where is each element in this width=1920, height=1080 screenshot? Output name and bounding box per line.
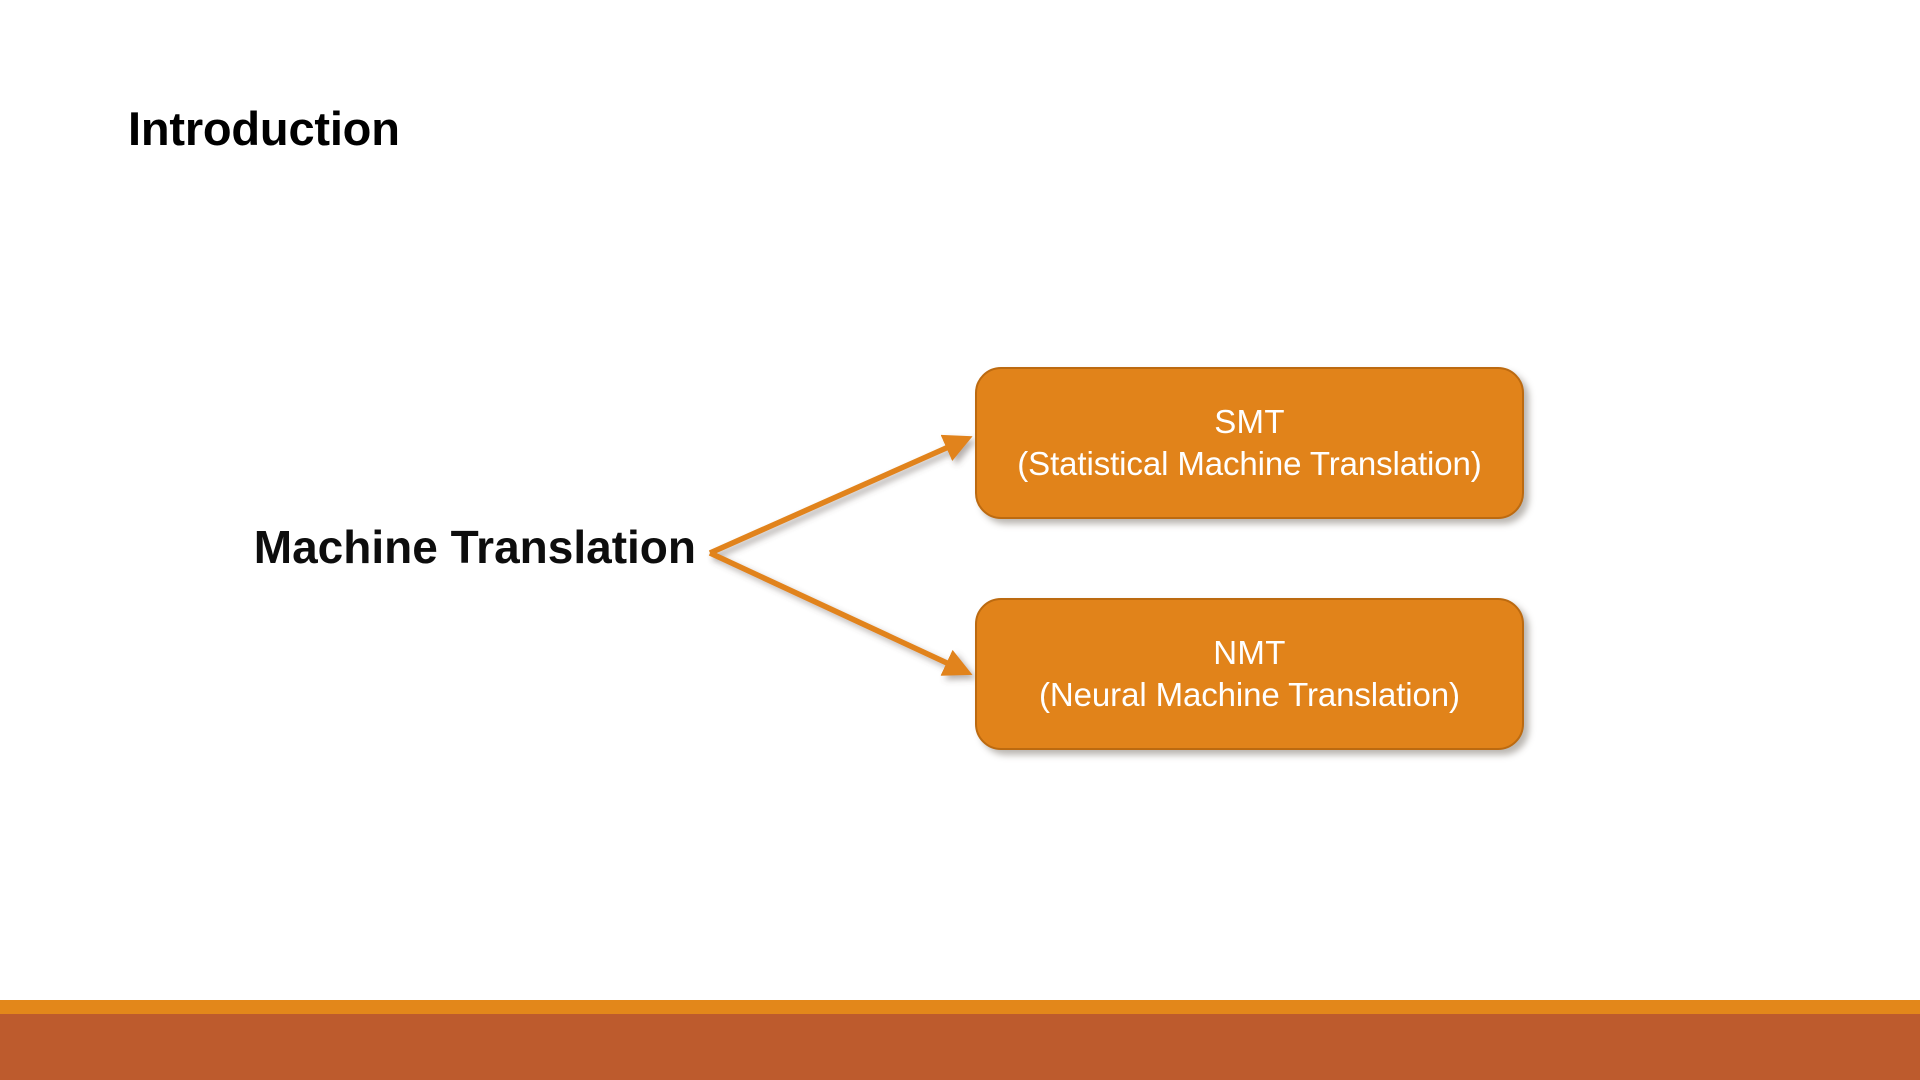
slide-canvas: Introduction Machine Translation SMT (St… [0, 0, 1920, 1080]
connector-arrow-to-smt [710, 441, 962, 553]
diagram-root-label: Machine Translation [216, 521, 696, 574]
diagram-node-nmt-expansion: (Neural Machine Translation) [1039, 674, 1460, 716]
connector-arrow-to-nmt [710, 553, 962, 670]
diagram-node-smt-abbrev: SMT [1214, 401, 1285, 443]
footer-stripe-bottom [0, 1014, 1920, 1080]
diagram-node-nmt[interactable]: NMT (Neural Machine Translation) [975, 598, 1524, 750]
diagram-node-smt[interactable]: SMT (Statistical Machine Translation) [975, 367, 1524, 519]
slide-footer-bar [0, 1000, 1920, 1080]
diagram-node-nmt-abbrev: NMT [1213, 632, 1285, 674]
diagram-node-smt-expansion: (Statistical Machine Translation) [1017, 443, 1481, 485]
page-title: Introduction [128, 103, 400, 155]
footer-stripe-top [0, 1000, 1920, 1014]
